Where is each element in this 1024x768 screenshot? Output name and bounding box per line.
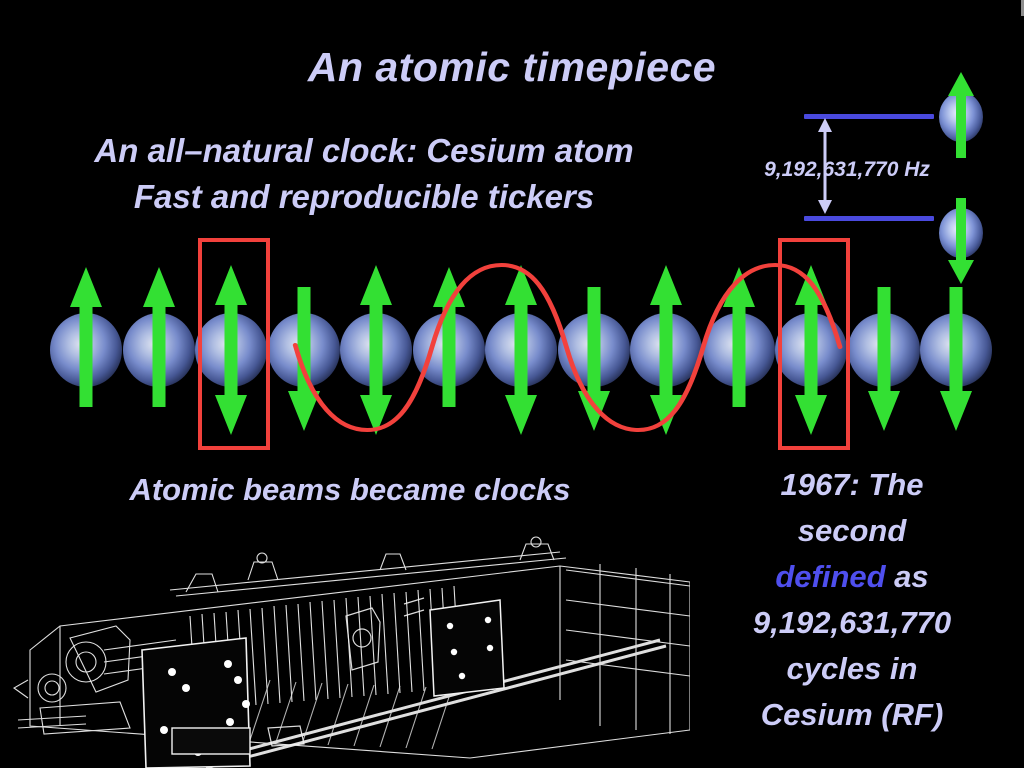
- definition-line-1: 1967: The: [680, 462, 1024, 508]
- subtitle-line-2: Fast and reproducible tickers: [14, 174, 714, 220]
- rf-drive-wave: [0, 255, 1024, 445]
- definition-line-2: second: [680, 508, 1024, 554]
- atomic-beams-caption: Atomic beams became clocks: [30, 472, 670, 508]
- lower-energy-level-line: [804, 216, 934, 221]
- definition-line-5: cycles in: [680, 646, 1024, 692]
- slide-subtitle: An all–natural clock: Cesium atom Fast a…: [14, 128, 714, 220]
- defined-keyword: defined: [775, 559, 885, 594]
- definition-line-3: defined as: [680, 554, 1024, 600]
- rf-zone-highlight-box[interactable]: [778, 238, 850, 450]
- slide-canvas: An atomic timepiece An all–natural clock…: [0, 0, 1024, 768]
- upper-state-atom: [930, 72, 992, 168]
- as-word: as: [886, 559, 929, 594]
- second-definition-block: 1967: The second defined as 9,192,631,77…: [680, 462, 1024, 738]
- slide-title: An atomic timepiece: [0, 44, 1024, 91]
- definition-line-6: Cesium (RF): [680, 692, 1024, 738]
- spin-up-arrow-icon: [930, 72, 992, 168]
- subtitle-line-1: An all–natural clock: Cesium atom: [14, 128, 714, 174]
- rf-zone-highlight-box[interactable]: [198, 238, 270, 450]
- definition-line-4: 9,192,631,770: [680, 600, 1024, 646]
- atomic-beam-apparatus-photo: [0, 530, 690, 768]
